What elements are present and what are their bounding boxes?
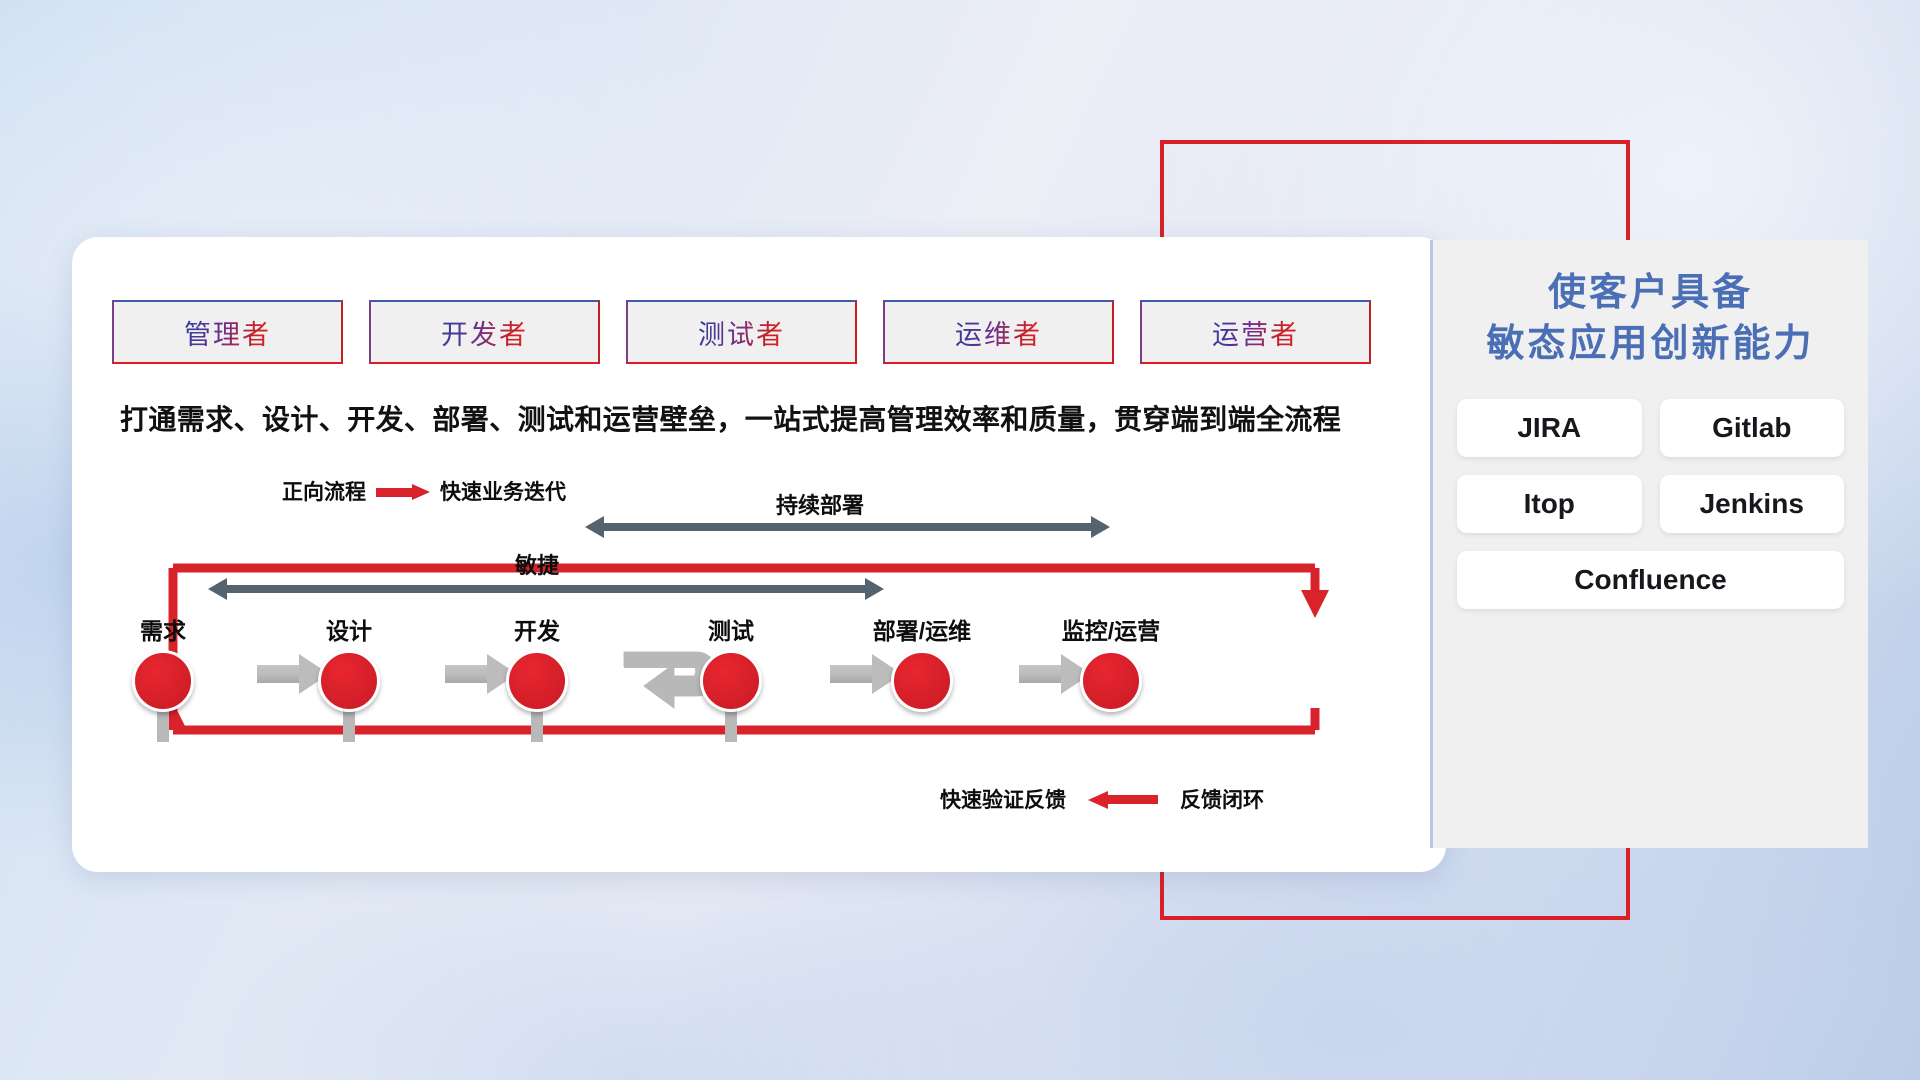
continuous-deploy-caption: 持续部署 bbox=[776, 488, 864, 520]
stage-deploy-ops[interactable]: 部署/运维 bbox=[842, 612, 1002, 712]
stage-monitor-operations[interactable]: 监控/运营 bbox=[1031, 612, 1191, 712]
role-box-operations[interactable]: 运维者 bbox=[883, 300, 1114, 364]
legend-forward-left-label: 正向流程 bbox=[282, 476, 366, 506]
stage-dot-icon bbox=[1080, 650, 1142, 712]
stage-design[interactable]: 设计 bbox=[269, 612, 429, 712]
role-box-business-operations[interactable]: 运营者 bbox=[1140, 300, 1371, 364]
right-tools-panel: 使客户具备 敏态应用创新能力 JIRA Gitlab Itop Jenkins … bbox=[1430, 240, 1868, 848]
tool-chip-itop[interactable]: Itop bbox=[1457, 475, 1642, 533]
role-label: 运营者 bbox=[1212, 313, 1299, 352]
headline-text: 打通需求、设计、开发、部署、测试和运营壁垒，一站式提高管理效率和质量，贯穿端到端… bbox=[120, 398, 1420, 438]
stage-dot-icon bbox=[700, 650, 762, 712]
pipeline-stages: 需求 设计 开发 测试 部署/运维 监控/运营 bbox=[112, 612, 1372, 742]
legend-feedback-left-label: 快速验证反馈 bbox=[940, 784, 1066, 814]
panel-title-line1: 使客户具备 bbox=[1433, 268, 1868, 319]
role-box-tester[interactable]: 测试者 bbox=[626, 300, 857, 364]
tool-chip-gitlab[interactable]: Gitlab bbox=[1660, 399, 1845, 457]
stage-dot-icon bbox=[891, 650, 953, 712]
stage-label: 设计 bbox=[269, 612, 429, 646]
tool-chip-jira[interactable]: JIRA bbox=[1457, 399, 1642, 457]
tool-chip-jenkins[interactable]: Jenkins bbox=[1660, 475, 1845, 533]
stage-requirement[interactable]: 需求 bbox=[83, 612, 243, 712]
role-label: 运维者 bbox=[955, 313, 1042, 352]
role-label: 开发者 bbox=[441, 313, 528, 352]
stage-dot-icon bbox=[132, 650, 194, 712]
agile-double-arrow-icon bbox=[208, 578, 884, 600]
role-label: 管理者 bbox=[184, 313, 271, 352]
legend-forward-flow: 正向流程 快速业务迭代 bbox=[282, 476, 566, 506]
role-box-developer[interactable]: 开发者 bbox=[369, 300, 600, 364]
role-boxes-row: 管理者 开发者 测试者 运维者 运营者 bbox=[112, 300, 1371, 364]
tool-chip-grid: JIRA Gitlab Itop Jenkins Confluence bbox=[1457, 399, 1844, 609]
stage-testing[interactable]: 测试 bbox=[651, 612, 811, 712]
panel-title: 使客户具备 敏态应用创新能力 bbox=[1433, 268, 1868, 371]
role-label: 测试者 bbox=[698, 313, 785, 352]
tool-chip-confluence[interactable]: Confluence bbox=[1457, 551, 1844, 609]
stage-label: 需求 bbox=[83, 612, 243, 646]
role-box-manager[interactable]: 管理者 bbox=[112, 300, 343, 364]
agile-caption: 敏捷 bbox=[515, 548, 559, 580]
stage-dot-icon bbox=[506, 650, 568, 712]
legend-feedback-loop: 快速验证反馈 反馈闭环 bbox=[940, 784, 1264, 814]
arrow-left-red-icon bbox=[1088, 791, 1158, 807]
stage-dot-icon bbox=[318, 650, 380, 712]
stage-development[interactable]: 开发 bbox=[457, 612, 617, 712]
panel-title-line2: 敏态应用创新能力 bbox=[1433, 319, 1868, 370]
legend-forward-right-label: 快速业务迭代 bbox=[440, 476, 566, 506]
stage-label: 测试 bbox=[651, 612, 811, 646]
arrow-right-red-icon bbox=[376, 484, 430, 498]
stage-label: 监控/运营 bbox=[1031, 612, 1191, 646]
stage-label: 开发 bbox=[457, 612, 617, 646]
stage-label: 部署/运维 bbox=[842, 612, 1002, 646]
legend-feedback-right-label: 反馈闭环 bbox=[1180, 784, 1264, 814]
